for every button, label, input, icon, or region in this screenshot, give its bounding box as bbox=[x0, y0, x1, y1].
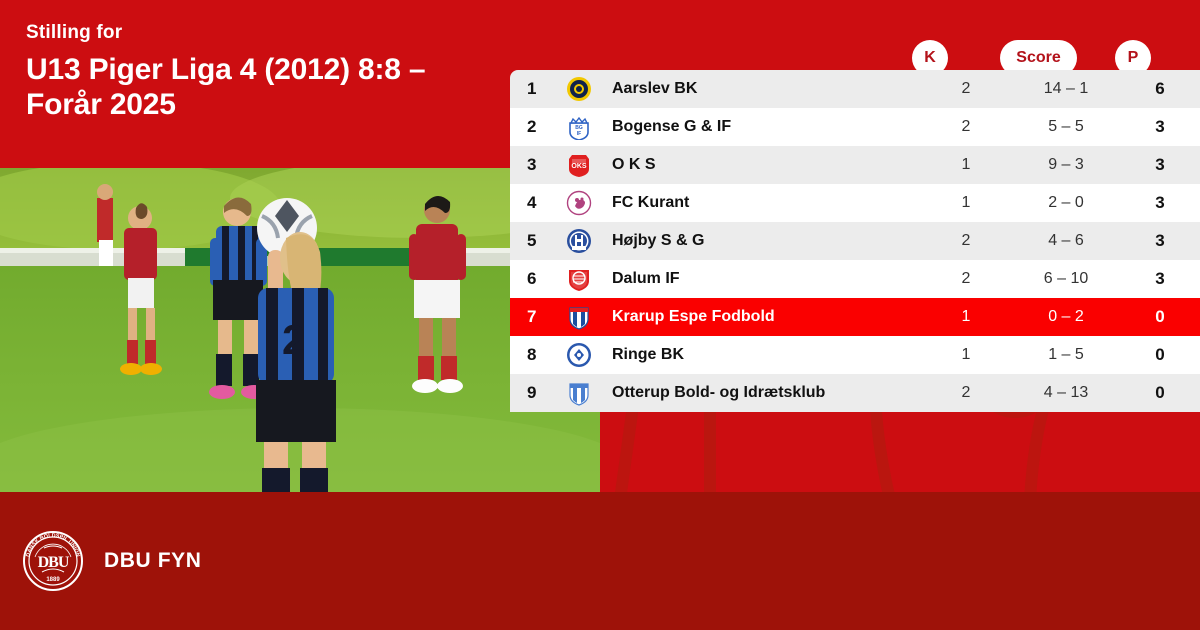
goal-score-cell: 0 – 2 bbox=[1012, 308, 1120, 326]
aarslev-bk-crest-icon bbox=[558, 76, 600, 102]
goal-score-cell: 9 – 3 bbox=[1012, 156, 1120, 174]
team-name-cell: Krarup Espe Fodbold bbox=[600, 308, 920, 326]
matches-played-cell: 2 bbox=[920, 232, 1012, 250]
table-row[interactable]: 3O K S19 – 33 bbox=[510, 146, 1200, 184]
table-row[interactable]: 7Krarup Espe Fodbold10 – 20 bbox=[510, 298, 1200, 336]
rank-cell: 2 bbox=[510, 117, 558, 137]
goal-score-cell: 4 – 6 bbox=[1012, 232, 1120, 250]
krarup-espe-crest-icon bbox=[558, 304, 600, 330]
rank-cell: 9 bbox=[510, 383, 558, 403]
points-cell: 3 bbox=[1120, 155, 1200, 175]
rank-cell: 1 bbox=[510, 79, 558, 99]
team-name-cell: Otterup Bold- og Idrætsklub bbox=[600, 384, 920, 402]
points-cell: 3 bbox=[1120, 193, 1200, 213]
points-cell: 0 bbox=[1120, 383, 1200, 403]
ringe-bk-crest-icon bbox=[558, 342, 600, 368]
goal-score-cell: 4 – 13 bbox=[1012, 384, 1120, 402]
table-row[interactable]: 9Otterup Bold- og Idrætsklub24 – 130 bbox=[510, 374, 1200, 412]
goal-score-cell: 14 – 1 bbox=[1012, 80, 1120, 98]
rank-cell: 6 bbox=[510, 269, 558, 289]
team-name-cell: Dalum IF bbox=[600, 270, 920, 288]
footer-association-label: DBU FYN bbox=[104, 549, 202, 573]
dbu-roundel-logo-icon bbox=[22, 530, 84, 592]
points-cell: 3 bbox=[1120, 117, 1200, 137]
standings-table: 1Aarslev BK214 – 162Bogense G & IF25 – 5… bbox=[510, 70, 1200, 412]
matches-played-cell: 2 bbox=[920, 270, 1012, 288]
rank-cell: 5 bbox=[510, 231, 558, 251]
goal-score-cell: 2 – 0 bbox=[1012, 194, 1120, 212]
bogense-gif-crest-icon bbox=[558, 114, 600, 140]
team-name-cell: Højby S & G bbox=[600, 232, 920, 250]
team-name-cell: Bogense G & IF bbox=[600, 118, 920, 136]
table-row[interactable]: 6Dalum IF26 – 103 bbox=[510, 260, 1200, 298]
fc-kurant-crest-icon bbox=[558, 190, 600, 216]
team-name-cell: O K S bbox=[600, 156, 920, 174]
matches-played-cell: 1 bbox=[920, 308, 1012, 326]
team-name-cell: Ringe BK bbox=[600, 346, 920, 364]
matches-played-cell: 2 bbox=[920, 80, 1012, 98]
points-cell: 3 bbox=[1120, 269, 1200, 289]
team-name-cell: FC Kurant bbox=[600, 194, 920, 212]
goal-score-cell: 6 – 10 bbox=[1012, 270, 1120, 288]
rank-cell: 7 bbox=[510, 307, 558, 327]
otterup-crest-icon bbox=[558, 380, 600, 406]
matches-played-cell: 2 bbox=[920, 118, 1012, 136]
table-row[interactable]: 8Ringe BK11 – 50 bbox=[510, 336, 1200, 374]
footer-bar: DBU FYN bbox=[0, 492, 1200, 630]
goal-score-cell: 5 – 5 bbox=[1012, 118, 1120, 136]
rank-cell: 8 bbox=[510, 345, 558, 365]
rank-cell: 4 bbox=[510, 193, 558, 213]
points-cell: 0 bbox=[1120, 345, 1200, 365]
matches-played-cell: 2 bbox=[920, 384, 1012, 402]
table-row[interactable]: 1Aarslev BK214 – 16 bbox=[510, 70, 1200, 108]
oks-crest-icon bbox=[558, 152, 600, 178]
table-row[interactable]: 4FC Kurant12 – 03 bbox=[510, 184, 1200, 222]
matches-played-cell: 1 bbox=[920, 194, 1012, 212]
team-name-cell: Aarslev BK bbox=[600, 80, 920, 98]
table-row[interactable]: 2Bogense G & IF25 – 53 bbox=[510, 108, 1200, 146]
points-cell: 6 bbox=[1120, 79, 1200, 99]
hojby-sg-crest-icon bbox=[558, 228, 600, 254]
matches-played-cell: 1 bbox=[920, 346, 1012, 364]
matches-played-cell: 1 bbox=[920, 156, 1012, 174]
svg-text:2: 2 bbox=[282, 316, 305, 363]
dalum-if-crest-icon bbox=[558, 266, 600, 292]
rank-cell: 3 bbox=[510, 155, 558, 175]
points-cell: 3 bbox=[1120, 231, 1200, 251]
goal-score-cell: 1 – 5 bbox=[1012, 346, 1120, 364]
points-cell: 0 bbox=[1120, 307, 1200, 327]
table-row[interactable]: 5Højby S & G24 – 63 bbox=[510, 222, 1200, 260]
